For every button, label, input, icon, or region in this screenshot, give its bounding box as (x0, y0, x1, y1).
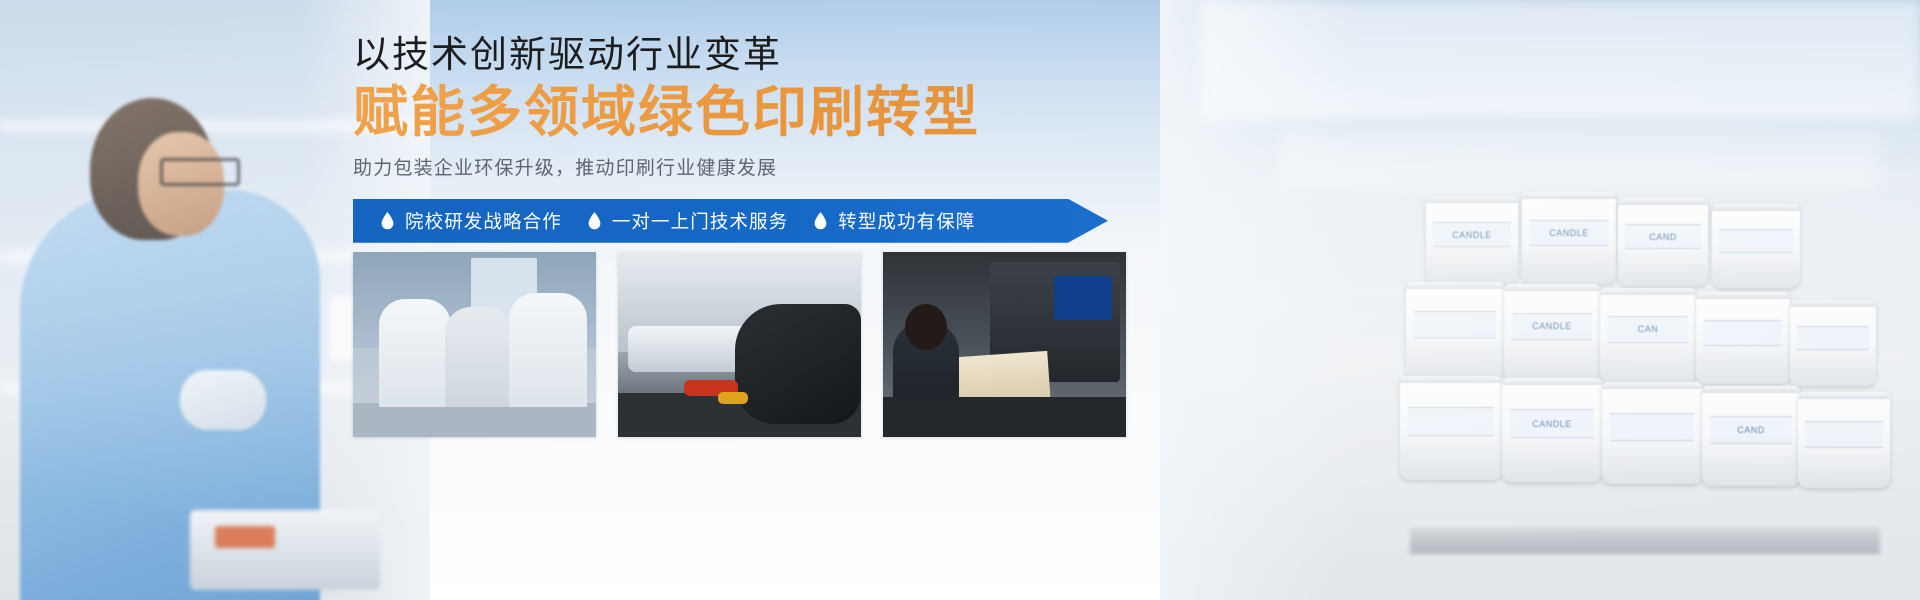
bucket-label: CAN (1608, 316, 1689, 342)
droplet-icon (814, 212, 827, 230)
thumbnail-students-lab[interactable] (353, 252, 596, 437)
feature-badge-bar: 院校研发战略合作 一对一上门技术服务 转型成功有保障 (353, 199, 1108, 243)
bucket-label (1610, 413, 1694, 442)
bucket-label (1704, 320, 1783, 346)
feature-badge-1-label: 院校研发战略合作 (405, 208, 562, 234)
bucket-label: CAND (1710, 416, 1792, 444)
droplet-icon (588, 212, 601, 230)
hero-headline: 赋能多领域绿色印刷转型 (353, 81, 1473, 144)
feature-badge-1[interactable]: 院校研发战略合作 (381, 208, 562, 234)
hero-content: 以技术创新驱动行业变革 赋能多领域绿色印刷转型 助力包装企业环保升级，推动印刷行… (353, 34, 1473, 243)
thumbnail-ink-machine[interactable] (618, 252, 861, 437)
hero-subtitle: 助力包装企业环保升级，推动印刷行业健康发展 (353, 156, 1473, 183)
feature-badge-3[interactable]: 转型成功有保障 (814, 208, 975, 234)
hero-eyebrow: 以技术创新驱动行业变革 (353, 34, 1473, 75)
bucket-label: CANDLE (1512, 313, 1593, 340)
droplet-icon (381, 212, 394, 230)
bucket-label (1719, 229, 1793, 253)
bucket-label: CANDLE (1510, 409, 1594, 438)
bucket-label: CANDLE (1530, 220, 1609, 246)
bucket-label: CAND (1625, 224, 1701, 249)
feature-badge-3-label: 转型成功有保障 (838, 208, 975, 234)
bucket-label (1414, 311, 1496, 338)
analytical-balance (190, 510, 380, 590)
feature-badge-2[interactable]: 一对一上门技术服务 (588, 208, 788, 234)
hero-banner: CANDLE CANDLE CAND CANDLE CAN CANDLE CAN… (0, 0, 1920, 600)
bucket-label (1805, 421, 1882, 448)
thumbnail-printing-press[interactable] (883, 252, 1126, 437)
thumbnail-gallery (353, 252, 1126, 437)
bucket-label (1408, 407, 1494, 436)
feature-badge-2-label: 一对一上门技术服务 (612, 208, 788, 234)
bucket-label (1797, 326, 1869, 350)
